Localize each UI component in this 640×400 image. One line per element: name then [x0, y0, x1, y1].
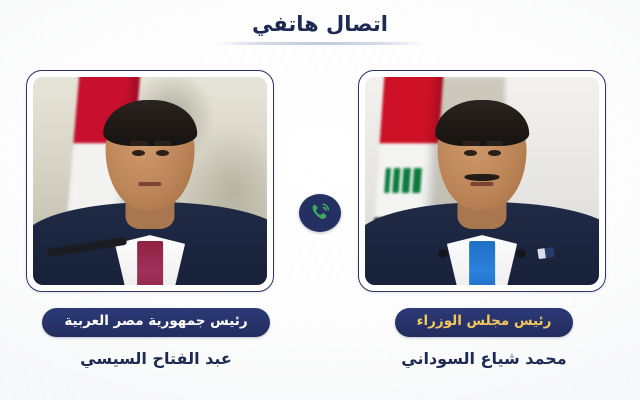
header: اتصال هاتفي: [0, 0, 640, 52]
eyebrow-left: [130, 141, 148, 146]
people-stage: رئيس جمهورية مصر العربية عبد الفتاح السي…: [0, 70, 640, 400]
portrait-photo-left: [33, 77, 267, 285]
clip-microphone-icon-left: [438, 249, 449, 258]
photo-frame-right: [358, 70, 606, 292]
tie-shape-right: [469, 241, 495, 285]
person-card-right: رئيس مجلس الوزراء محمد شياع السوداني: [342, 70, 626, 368]
mouth-right: [470, 182, 493, 186]
eyebrow-left: [462, 141, 480, 146]
role-badge-right: رئيس مجلس الوزراء: [395, 308, 574, 337]
graphic-canvas: اتصال هاتفي: [0, 0, 640, 400]
person-name-left: عبد الفتاح السيسي: [14, 349, 298, 368]
eye-right: [488, 150, 501, 156]
portrait-photo-right: [365, 77, 599, 285]
tie-shape-left: [137, 241, 163, 285]
mouth-left: [138, 182, 161, 186]
page-title: اتصال هاتفي: [252, 13, 388, 36]
eyebrow-right: [486, 141, 504, 146]
role-badge-left: رئيس جمهورية مصر العربية: [42, 308, 269, 337]
phone-call-badge: [299, 194, 341, 232]
photo-frame-left: [26, 70, 274, 292]
person-name-right: محمد شياع السوداني: [342, 349, 626, 368]
person-card-left: رئيس جمهورية مصر العربية عبد الفتاح السي…: [14, 70, 298, 368]
title-divider: [215, 42, 425, 45]
phone-call-icon: [308, 202, 332, 224]
eyebrow-right: [154, 141, 172, 146]
eye-right: [156, 150, 169, 156]
